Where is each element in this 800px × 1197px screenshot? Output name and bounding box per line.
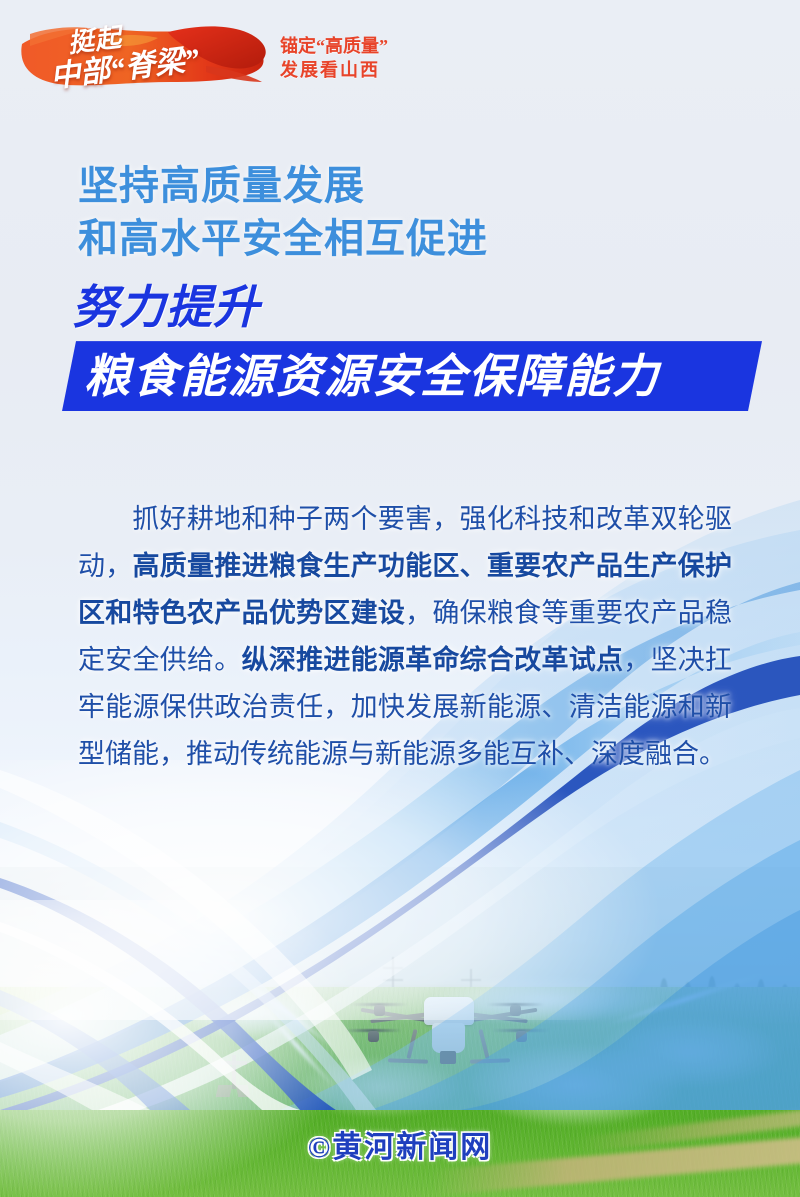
headline-line-1: 坚持高质量发展 — [78, 160, 800, 213]
source-watermark: ©黄河新闻网 — [0, 1122, 800, 1166]
logo-text: 挺起 中部“脊梁” — [48, 24, 278, 94]
logo-subtitle-line2: 发展看山西 — [280, 58, 420, 82]
drone-motor — [368, 1031, 379, 1042]
drone-skid — [388, 1058, 428, 1063]
headline-emphasis: 努力提升 — [72, 282, 800, 334]
headline-banner-text: 粮食能源资源安全保障能力 — [84, 347, 660, 405]
body-segment-4-bold: 纵深推进能源革命综合改革试点 — [242, 645, 624, 675]
headline-block: 坚持高质量发展 和高水平安全相互促进 努力提升 粮食能源资源安全保障能力 — [0, 160, 800, 411]
sprinkler-machine — [215, 1055, 255, 1099]
headline-line-2: 和高水平安全相互促进 — [78, 213, 800, 266]
drone-payload-box — [440, 1051, 456, 1064]
drone-motor — [374, 1005, 385, 1016]
logo-subtitle: 锚定“高质量” 发展看山西 — [280, 34, 420, 83]
drone-motor — [510, 1005, 521, 1016]
headline-banner: 粮食能源资源安全保障能力 — [62, 341, 762, 411]
body-paragraph: 抓好耕地和种子两个要害，强化科技和改革双轮驱动，高质量推进粮食生产功能区、重要农… — [78, 496, 732, 778]
drone-leg — [478, 1029, 489, 1059]
drone-skid — [470, 1058, 510, 1063]
drone-spray-tank — [432, 1023, 465, 1053]
spraying-drone-icon — [352, 985, 542, 1077]
campaign-logo: 挺起 中部“脊梁” 锚定“高质量” 发展看山西 — [18, 10, 418, 108]
irrigation-mist — [180, 987, 330, 1039]
drone-leg — [406, 1029, 417, 1059]
irrigation-mist — [600, 1017, 780, 1087]
poster-canvas: 挺起 中部“脊梁” 锚定“高质量” 发展看山西 坚持高质量发展 和高水平安全相互… — [0, 0, 800, 1197]
drone-motor — [516, 1031, 527, 1042]
drone-body — [424, 997, 474, 1025]
logo-subtitle-line1: 锚定“高质量” — [280, 34, 420, 58]
